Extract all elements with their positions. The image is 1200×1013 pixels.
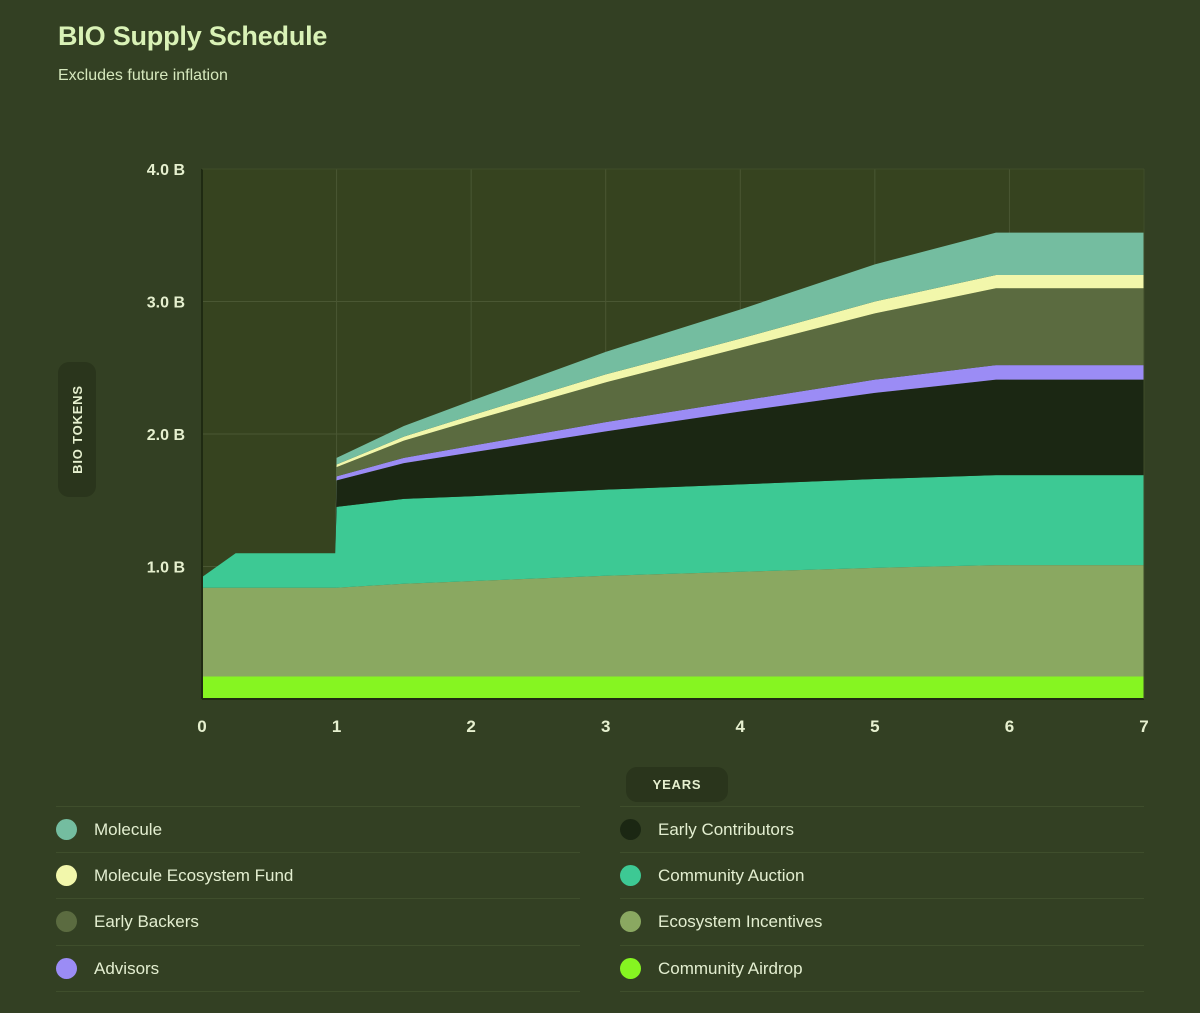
x-axis-label-text: YEARS: [653, 777, 702, 792]
legend-swatch-icon: [620, 865, 641, 886]
legend-item-label: Molecule: [94, 821, 162, 838]
x-tick-label: 7: [1139, 717, 1148, 736]
y-tick-label: 3.0 B: [147, 295, 185, 312]
legend-item-community-auction[interactable]: Community Auction: [620, 853, 1144, 900]
legend-item-label: Molecule Ecosystem Fund: [94, 867, 293, 884]
legend-swatch-icon: [56, 819, 77, 840]
y-tick-label: 4.0 B: [147, 162, 185, 179]
x-axis-label-pill: YEARS: [626, 767, 728, 802]
legend-swatch-icon: [56, 958, 77, 979]
legend-item-label: Early Contributors: [658, 821, 794, 838]
chart-header: BIO Supply Schedule Excludes future infl…: [58, 22, 327, 85]
x-tick-labels: 01234567: [197, 717, 1148, 736]
y-tick-label: 1.0 B: [147, 560, 185, 577]
legend-item-label: Community Auction: [658, 867, 804, 884]
legend-swatch-icon: [56, 911, 77, 932]
x-tick-label: 4: [736, 717, 746, 736]
x-tick-label: 0: [197, 717, 206, 736]
y-tick-label: 2.0 B: [147, 427, 185, 444]
legend-item-molecule[interactable]: Molecule: [56, 806, 580, 853]
legend-item-advisors[interactable]: Advisors: [56, 946, 580, 993]
legend-swatch-icon: [620, 958, 641, 979]
legend-item-label: Community Airdrop: [658, 960, 803, 977]
legend-swatch-icon: [620, 819, 641, 840]
legend-column-right: Early ContributorsCommunity AuctionEcosy…: [620, 806, 1144, 992]
chart-page: BIO Supply Schedule Excludes future infl…: [0, 0, 1200, 1013]
page-title: BIO Supply Schedule: [58, 22, 327, 52]
x-tick-label: 5: [870, 717, 879, 736]
x-tick-label: 2: [466, 717, 475, 736]
legend-item-ecosystem-incentives[interactable]: Ecosystem Incentives: [620, 899, 1144, 946]
y-axis-label-text: BIO TOKENS: [70, 385, 85, 474]
x-tick-label: 1: [332, 717, 341, 736]
legend-item-molecule-ecosystem-fund[interactable]: Molecule Ecosystem Fund: [56, 853, 580, 900]
legend-swatch-icon: [620, 911, 641, 932]
chart-legend: MoleculeMolecule Ecosystem FundEarly Bac…: [0, 806, 1200, 992]
legend-item-label: Ecosystem Incentives: [658, 913, 822, 930]
y-tick-labels: 1.0 B2.0 B3.0 B4.0 B: [147, 162, 185, 577]
chart-container: 1.0 B2.0 B3.0 B4.0 B01234567: [0, 140, 1200, 760]
x-tick-label: 6: [1005, 717, 1014, 736]
supply-schedule-area-chart: 1.0 B2.0 B3.0 B4.0 B01234567: [0, 140, 1200, 760]
legend-swatch-icon: [56, 865, 77, 886]
area-series-community-airdrop[interactable]: [202, 676, 1144, 699]
legend-item-label: Advisors: [94, 960, 159, 977]
legend-column-left: MoleculeMolecule Ecosystem FundEarly Bac…: [56, 806, 580, 992]
legend-item-community-airdrop[interactable]: Community Airdrop: [620, 946, 1144, 993]
legend-item-early-backers[interactable]: Early Backers: [56, 899, 580, 946]
legend-item-early-contributors[interactable]: Early Contributors: [620, 806, 1144, 853]
y-axis-label-pill: BIO TOKENS: [58, 362, 96, 497]
chart-subtitle: Excludes future inflation: [58, 66, 327, 85]
legend-item-label: Early Backers: [94, 913, 199, 930]
x-tick-label: 3: [601, 717, 610, 736]
